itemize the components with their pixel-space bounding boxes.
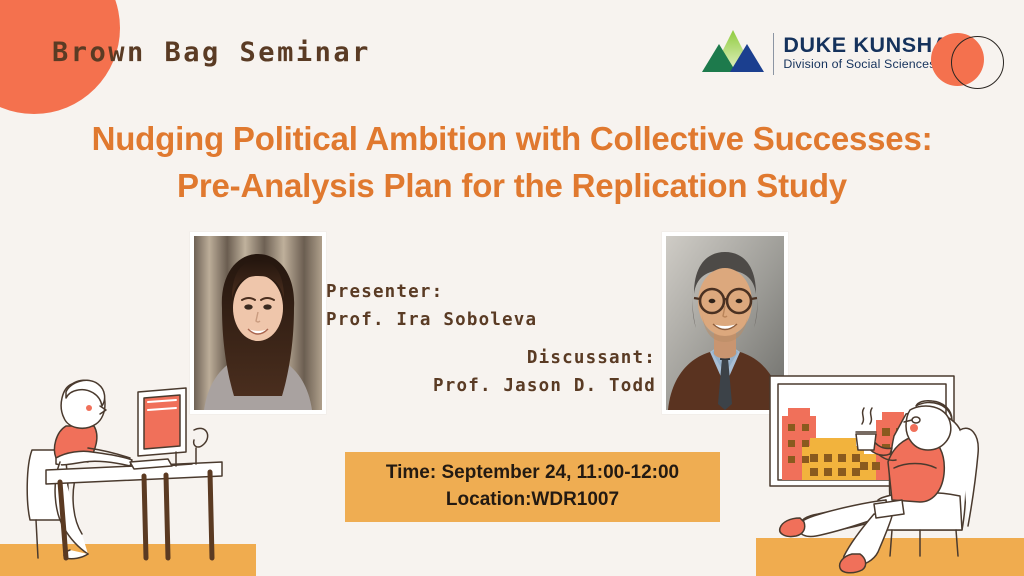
event-location: Location:WDR1007 — [446, 487, 619, 514]
page-title-line-1: Nudging Political Ambition with Collecti… — [0, 116, 1024, 163]
discussant-name: Prof. Jason D. Todd — [320, 372, 656, 400]
logo-subtitle: Division of Social Sciences — [783, 57, 935, 71]
page-title: Nudging Political Ambition with Collecti… — [0, 116, 1024, 210]
discussant-label: Discussant: — [320, 344, 656, 372]
presenter-label: Presenter: — [326, 278, 537, 306]
logo-outline-circle-decoration — [951, 36, 1004, 89]
event-details-box: Time: September 24, 11:00-12:00 Location… — [345, 452, 720, 522]
seminar-kicker: Brown Bag Seminar — [52, 37, 371, 68]
presenter-info: Presenter: Prof. Ira Soboleva — [326, 278, 537, 335]
illustration-woman-at-desk — [26, 362, 256, 576]
discussant-info: Discussant: Prof. Jason D. Todd — [320, 344, 656, 401]
mountain-logo-icon — [702, 28, 764, 79]
illustration-person-in-armchair — [764, 358, 1020, 576]
presenter-name: Prof. Ira Soboleva — [326, 306, 537, 334]
seminar-poster: Brown Bag Seminar DUKE KUNSHAN Division … — [0, 0, 1024, 576]
logo-divider — [773, 33, 774, 75]
event-time: Time: September 24, 11:00-12:00 — [386, 460, 679, 487]
page-title-line-2: Pre-Analysis Plan for the Replication St… — [0, 163, 1024, 210]
